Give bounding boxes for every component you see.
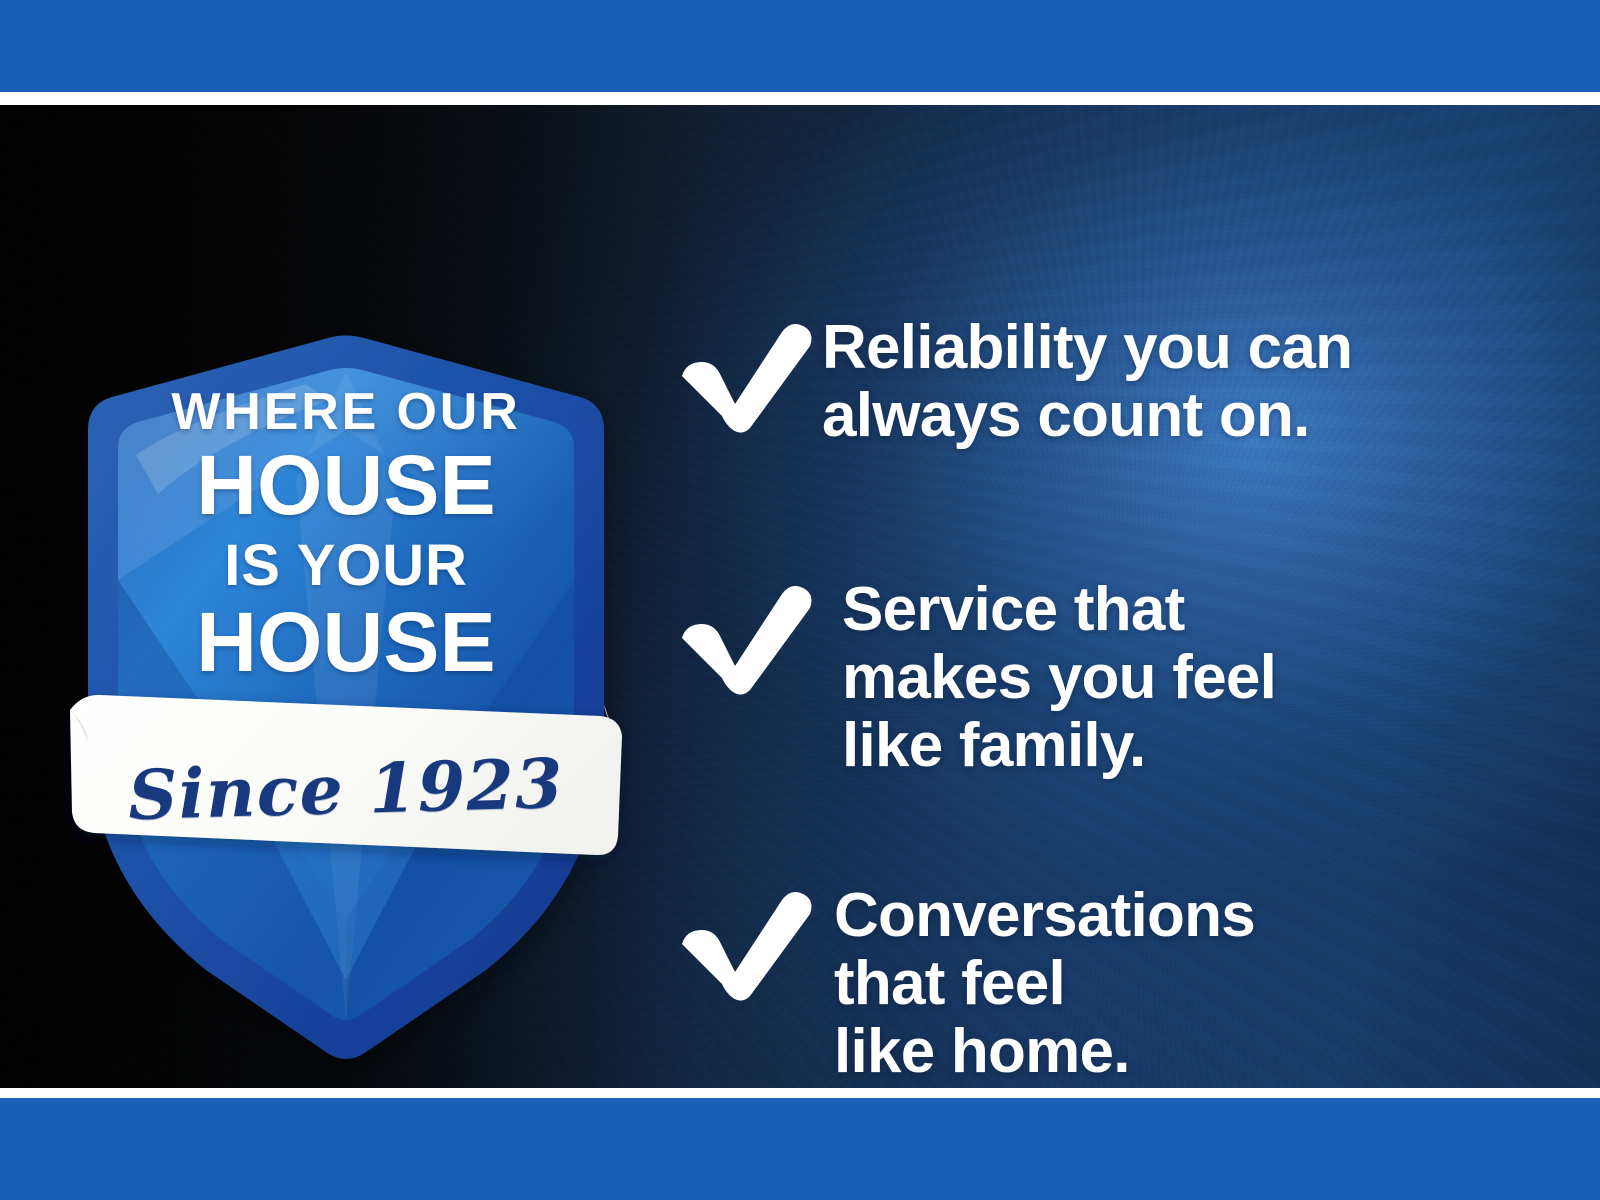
checkmark-icon	[672, 886, 822, 1004]
since-banner	[70, 695, 622, 855]
benefit-item-service: Service that makes you feel like family.	[672, 576, 1532, 781]
checkmark-icon	[672, 318, 822, 436]
poster-stage: WHERE OUR HOUSE IS YOUR HOUSE Since 1923…	[0, 105, 1600, 1088]
benefits-list: Reliability you can always count on. Ser…	[672, 210, 1532, 1088]
benefit-text: Service that makes you feel like family.	[822, 576, 1532, 781]
shield-emblem: WHERE OUR HOUSE IS YOUR HOUSE Since 1923	[66, 280, 626, 1070]
benefit-text: Reliability you can always count on.	[822, 314, 1532, 450]
checkmark-icon	[672, 580, 822, 698]
benefit-item-reliability: Reliability you can always count on.	[672, 314, 1532, 450]
promo-poster: WHERE OUR HOUSE IS YOUR HOUSE Since 1923…	[0, 0, 1600, 1200]
bottom-brand-bar	[0, 1098, 1600, 1200]
benefit-item-conversations: Conversations that feel like home.	[672, 882, 1532, 1087]
benefit-text: Conversations that feel like home.	[822, 882, 1532, 1087]
top-brand-bar	[0, 0, 1600, 92]
